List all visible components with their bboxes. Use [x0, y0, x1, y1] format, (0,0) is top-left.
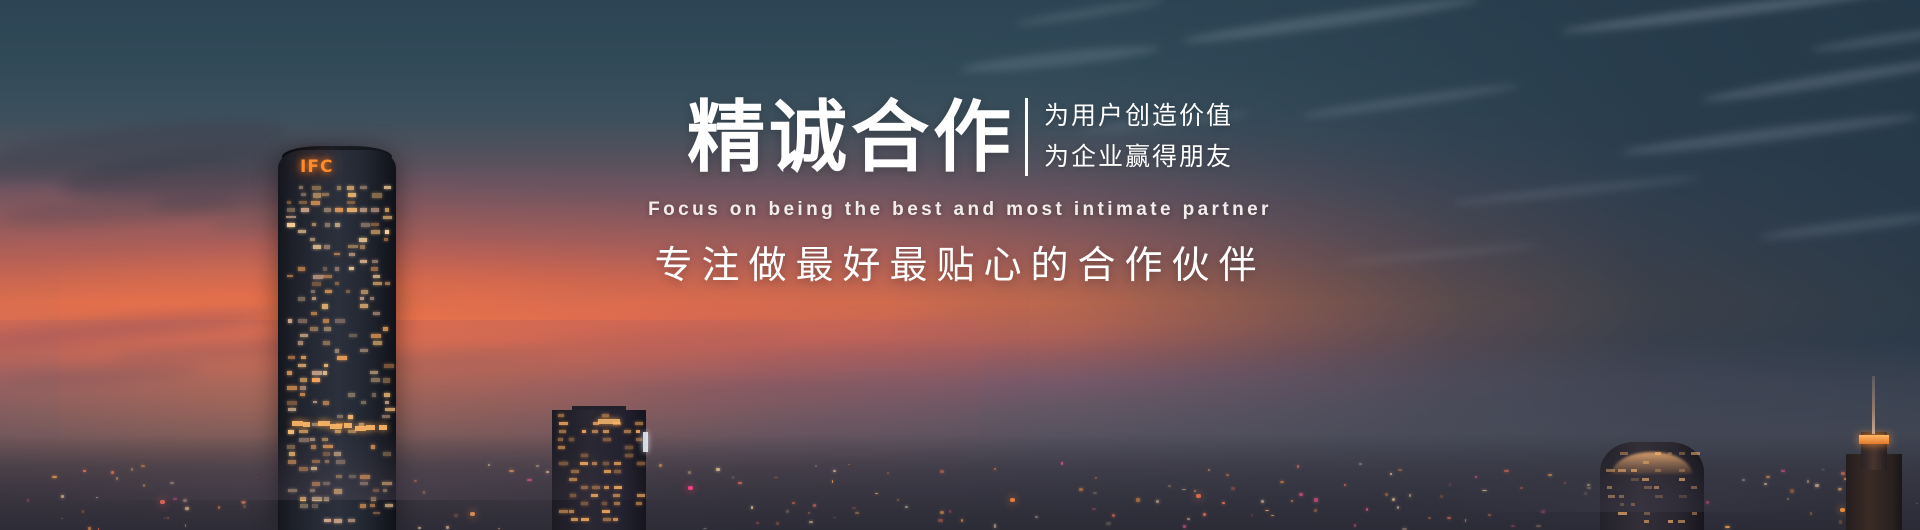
banner-headline: 精诚合作: [687, 98, 1015, 176]
spire-tower-antenna: [1872, 376, 1875, 434]
banner-tagline-chinese: 专注做最好最贴心的合作伙伴: [0, 234, 1920, 289]
hero-banner: IFC 精诚合作 为用户创造价值 为企业赢得朋友 Focus on being …: [0, 0, 1920, 530]
distant-mountain-ridge: [1420, 452, 1850, 512]
spire-tower-crown-light: [1859, 435, 1889, 444]
distant-hill-haze: [60, 430, 680, 500]
headline-side-lines: 为用户创造价值 为企业赢得朋友: [1044, 96, 1233, 177]
headline-divider: [1025, 98, 1028, 176]
banner-content: 精诚合作 为用户创造价值 为企业赢得朋友 Focus on being the …: [0, 96, 1920, 289]
side-line-2: 为企业赢得朋友: [1044, 137, 1233, 178]
banner-tagline-english: Focus on being the best and most intimat…: [0, 199, 1920, 221]
headline-row: 精诚合作 为用户创造价值 为企业赢得朋友: [0, 96, 1920, 177]
side-line-1: 为用户创造价值: [1044, 96, 1233, 137]
